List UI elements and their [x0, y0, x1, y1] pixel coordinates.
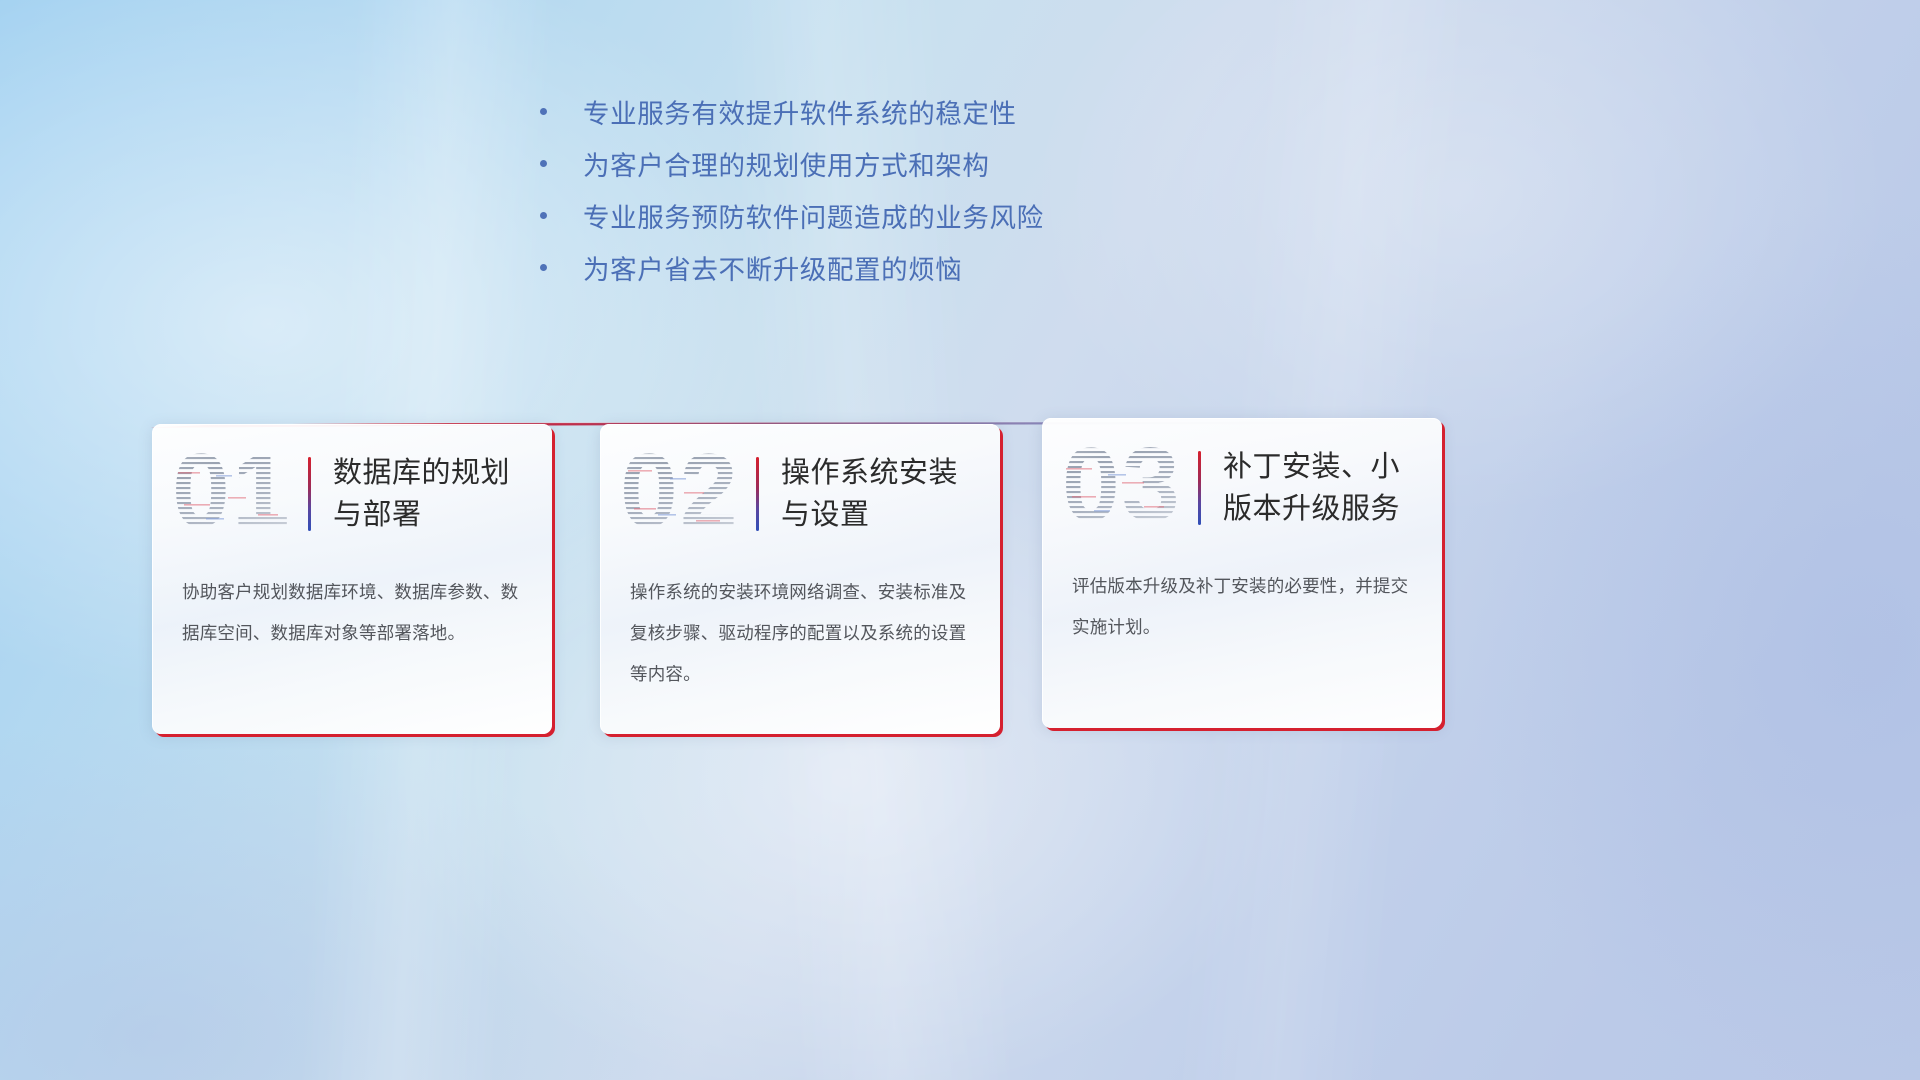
card-description-text: 评估版本升级及补丁安装的必要性，并提交实施计划。: [1072, 566, 1412, 648]
list-item: 专业服务预防软件问题造成的业务风险: [540, 192, 1400, 244]
list-item: 为客户合理的规划使用方式和架构: [540, 140, 1400, 192]
card-title-line-2: 与部署: [333, 494, 528, 536]
service-card[interactable]: 03 补丁安装、小 版本升级服务 评估版: [1042, 418, 1442, 728]
card-title-line-2: 与设置: [781, 494, 976, 536]
bullet-text: 专业服务有效提升软件系统的稳定性: [583, 88, 1017, 140]
card-description: 协助客户规划数据库环境、数据库参数、数据库空间、数据库对象等部署落地。: [152, 564, 552, 654]
bullet-dot-icon: [540, 108, 547, 115]
card-accent-rule: [308, 457, 311, 531]
card-description: 评估版本升级及补丁安装的必要性，并提交实施计划。: [1042, 558, 1442, 648]
card-header: 03 补丁安装、小 版本升级服务: [1042, 418, 1442, 558]
card-title: 操作系统安装 与设置: [781, 452, 976, 536]
bullet-text: 专业服务预防软件问题造成的业务风险: [583, 192, 1044, 244]
card-title-line-1: 数据库的规划: [333, 452, 528, 494]
bullet-dot-icon: [540, 212, 547, 219]
card-title-line-1: 补丁安装、小: [1223, 446, 1418, 488]
card-number-watermark-03: 03: [1060, 436, 1188, 540]
card-accent-rule: [756, 457, 759, 531]
card-description: 操作系统的安装环境网络调查、安装标准及复核步骤、驱动程序的配置以及系统的设置等内…: [600, 564, 1000, 695]
card-title: 补丁安装、小 版本升级服务: [1223, 446, 1418, 530]
card-accent-rule: [1198, 451, 1201, 525]
service-card[interactable]: 01 数据库的规划 与部署: [152, 424, 552, 734]
list-item: 为客户省去不断升级配置的烦恼: [540, 244, 1400, 296]
bullet-dot-icon: [540, 264, 547, 271]
svg-text:03: 03: [1062, 436, 1182, 540]
svg-text:02: 02: [620, 442, 740, 546]
benefits-bullet-list: 专业服务有效提升软件系统的稳定性 为客户合理的规划使用方式和架构 专业服务预防软…: [540, 88, 1400, 296]
card-title: 数据库的规划 与部署: [333, 452, 528, 536]
card-header: 02 操作系统安装 与设置: [600, 424, 1000, 564]
card-description-text: 操作系统的安装环境网络调查、安装标准及复核步骤、驱动程序的配置以及系统的设置等内…: [630, 572, 970, 695]
card-header: 01 数据库的规划 与部署: [152, 424, 552, 564]
card-title-line-2: 版本升级服务: [1223, 488, 1418, 530]
service-card[interactable]: 02 操作系统安装 与设置 操作系统的安: [600, 424, 1000, 734]
card-number-watermark-01: 01: [170, 442, 298, 546]
card-description-text: 协助客户规划数据库环境、数据库参数、数据库空间、数据库对象等部署落地。: [182, 572, 522, 654]
list-item: 专业服务有效提升软件系统的稳定性: [540, 88, 1400, 140]
svg-text:01: 01: [172, 442, 292, 546]
bullet-dot-icon: [540, 160, 547, 167]
card-number-watermark-02: 02: [618, 442, 746, 546]
card-title-line-1: 操作系统安装: [781, 452, 976, 494]
slide-canvas: 专业服务有效提升软件系统的稳定性 为客户合理的规划使用方式和架构 专业服务预防软…: [0, 0, 1920, 1080]
bullet-text: 为客户合理的规划使用方式和架构: [583, 140, 990, 192]
bullet-text: 为客户省去不断升级配置的烦恼: [583, 244, 962, 296]
